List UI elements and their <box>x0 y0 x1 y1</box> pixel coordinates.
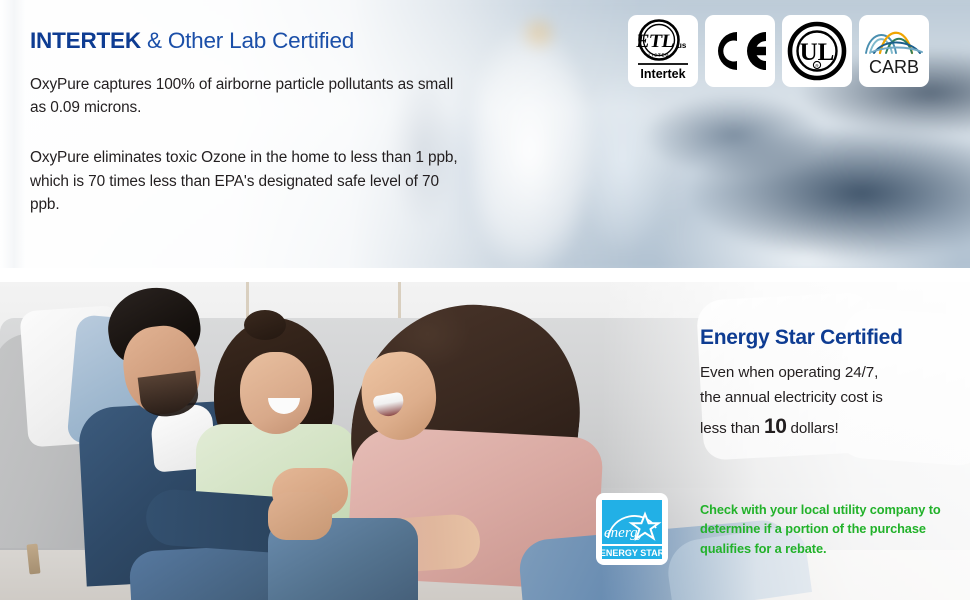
lab-paragraph-1: OxyPure captures 100% of airborne partic… <box>30 73 460 120</box>
etl-icon: ETL us LISTED Intertek <box>635 21 688 82</box>
energy-star-text-block: Energy Star Certified Even when operatin… <box>700 326 962 444</box>
energy-star-panel: Energy Star Certified Even when operatin… <box>0 282 970 600</box>
energy-star-logo-badge: energy ENERGY STAR <box>596 493 668 565</box>
lab-paragraph-2: OxyPure eliminates toxic Ozone in the ho… <box>30 146 460 217</box>
rebate-note: Check with your local utility company to… <box>700 500 970 558</box>
svg-text:LISTED: LISTED <box>649 53 670 58</box>
section-divider <box>0 268 970 282</box>
carb-badge: CARB <box>859 15 929 87</box>
carb-arcs-icon <box>866 33 922 53</box>
lab-headline-rest: & Other Lab Certified <box>141 28 354 53</box>
lab-headline-brand: INTERTEK <box>30 28 141 53</box>
lab-left-edge-highlight <box>0 0 26 268</box>
ul-mark-icon: UL R <box>790 24 844 78</box>
ce-mark-icon <box>718 32 766 70</box>
certification-badge-row: ETL us LISTED Intertek <box>628 15 929 87</box>
carb-wordmark: CARB <box>869 57 919 77</box>
energy-body-line-3-post: dollars! <box>786 420 838 437</box>
svg-text:Intertek: Intertek <box>640 67 685 81</box>
svg-text:ETL: ETL <box>635 31 676 52</box>
ce-mark-badge <box>705 15 775 87</box>
energy-body-line-2: the annual electricity cost is <box>700 389 883 406</box>
annual-cost-number: 10 <box>764 415 786 438</box>
product-feature-banner: INTERTEK & Other Lab Certified OxyPure c… <box>0 0 970 600</box>
energy-star-icon: energy ENERGY STAR <box>600 500 664 559</box>
svg-text:us: us <box>677 41 687 50</box>
energy-body-line-3-pre: less than <box>700 420 764 437</box>
ul-mark-badge: UL R <box>782 15 852 87</box>
energy-star-headline: Energy Star Certified <box>700 326 962 350</box>
lab-headline: INTERTEK & Other Lab Certified <box>30 28 460 54</box>
energy-body-line-1: Even when operating 24/7, <box>700 364 878 381</box>
energy-star-caption: ENERGY STAR <box>600 548 664 558</box>
lab-text-block: INTERTEK & Other Lab Certified OxyPure c… <box>30 28 460 217</box>
lab-certification-panel: INTERTEK & Other Lab Certified OxyPure c… <box>0 0 970 268</box>
svg-text:UL: UL <box>800 39 835 66</box>
etl-intertek-badge: ETL us LISTED Intertek <box>628 15 698 87</box>
energy-star-body: Even when operating 24/7, the annual ele… <box>700 361 962 444</box>
